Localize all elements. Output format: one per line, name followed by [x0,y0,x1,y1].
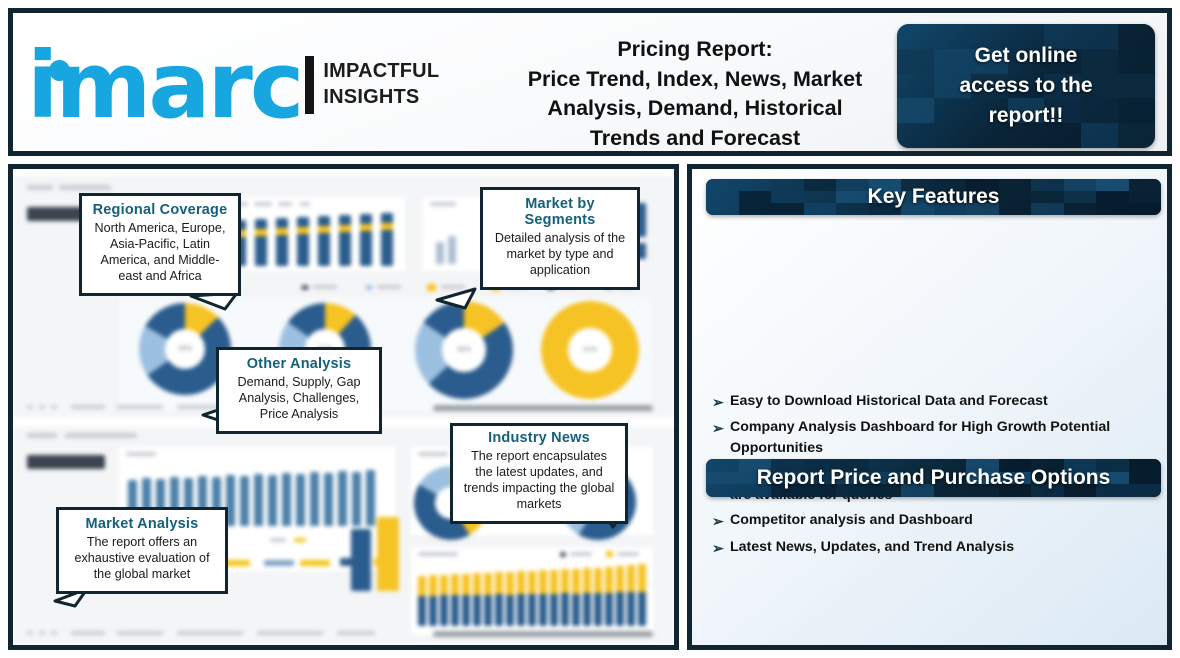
feature-item: ➢ Easy to Download Historical Data and F… [706,391,1161,412]
feature-text: Competitor analysis and Dashboard [730,510,973,531]
callout-title: Market Analysis [69,516,215,532]
callout-title: Regional Coverage [92,202,228,218]
arrow-bullet-icon: ➢ [706,537,730,558]
infographic-page: imarc IMPACTFUL INSIGHTS Pricing Report:… [0,0,1180,658]
imarc-logo: imarc IMPACTFUL INSIGHTS [27,27,487,137]
arrow-bullet-icon: ➢ [706,417,730,438]
cta-label-line-2: access to the [959,71,1092,101]
get-online-access-button[interactable]: Get online access to the report!! [897,24,1155,148]
key-features-header: Key Features [706,179,1161,215]
cta-label-line-3: report!! [959,101,1092,131]
feature-item: ➢ Competitor analysis and Dashboard [706,510,1161,531]
header-banner: imarc IMPACTFUL INSIGHTS Pricing Report:… [8,8,1172,156]
feature-text: Easy to Download Historical Data and For… [730,391,1048,412]
page-title-line-1: Pricing Report: [495,35,895,65]
callout-market-analysis: Market Analysis The report offers an exh… [56,507,228,594]
feature-item: ➢ Company Analysis Dashboard for High Gr… [706,417,1161,458]
arrow-bullet-icon: ➢ [706,510,730,531]
pricing-heading: Report Price and Purchase Options [757,466,1111,490]
feature-text: Latest News, Updates, and Trend Analysis [730,537,1014,558]
callout-regional-coverage: Regional Coverage North America, Europe,… [79,193,241,296]
feature-text: Company Analysis Dashboard for High Grow… [730,417,1161,458]
callout-title: Other Analysis [229,356,369,372]
arrow-bullet-icon: ➢ [706,391,730,412]
page-title-line-2: Price Trend, Index, News, Market [495,65,895,95]
logo-divider [305,56,314,114]
cta-label-line-1: Get online [959,41,1092,71]
callout-body: The report encapsulates the latest updat… [463,449,615,513]
header-inner: imarc IMPACTFUL INSIGHTS Pricing Report:… [13,13,1167,151]
callout-body: Detailed analysis of the market by type … [493,231,627,279]
callout-other-analysis: Other Analysis Demand, Supply, Gap Analy… [216,347,382,434]
feature-item: ➢ Latest News, Updates, and Trend Analys… [706,537,1161,558]
callout-market-by-segments: Market by Segments Detailed analysis of … [480,187,640,290]
logo-wordmark: imarc [27,32,301,139]
key-features-heading: Key Features [868,185,1000,209]
callout-body: The report offers an exhaustive evaluati… [69,535,215,583]
dashboard-preview-panel: 28% 31% 36% 41% [8,164,679,650]
callout-title: Market by Segments [493,196,627,228]
page-title-line-4: Trends and Forecast [495,124,895,154]
logo-tagline-line1: IMPACTFUL [323,59,439,85]
cta-label: Get online access to the report!! [959,41,1092,130]
features-and-pricing-panel: Key Features ➢ Easy to Download Historic… [687,164,1172,650]
pricing-header: Report Price and Purchase Options [706,459,1161,497]
logo-tagline: IMPACTFUL INSIGHTS [323,59,439,110]
page-title-line-3: Analysis, Demand, Historical [495,94,895,124]
callout-title: Industry News [463,430,615,446]
callout-industry-news: Industry News The report encapsulates th… [450,423,628,524]
callout-body: North America, Europe, Asia-Pacific, Lat… [92,221,228,285]
logo-tagline-line2: INSIGHTS [323,85,439,111]
callout-body: Demand, Supply, Gap Analysis, Challenges… [229,375,369,423]
page-title: Pricing Report: Price Trend, Index, News… [495,35,895,154]
